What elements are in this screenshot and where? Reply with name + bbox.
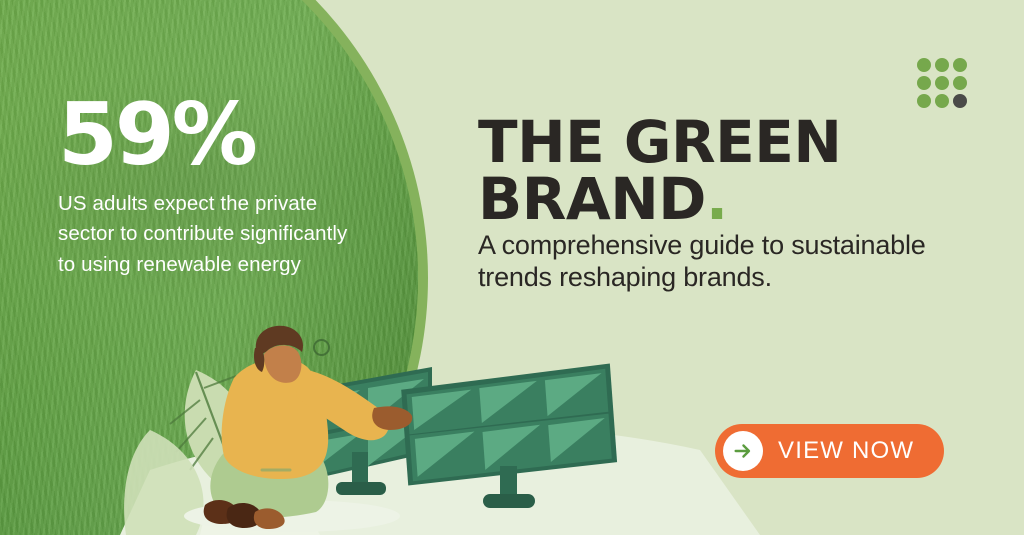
marketing-banner: 59% US adults expect the private sector … (0, 0, 1024, 535)
logo-dot-8 (935, 94, 949, 108)
logo-dot-7 (917, 94, 931, 108)
view-now-button[interactable]: VIEW NOW (715, 424, 944, 478)
decor-circle-outline (313, 339, 330, 356)
dot-grid-logo[interactable] (917, 58, 967, 108)
logo-dot-4 (917, 76, 931, 90)
headline-accent-dot: . (706, 165, 728, 233)
stat-description: US adults expect the private sector to c… (58, 189, 358, 280)
arrow-right-icon (723, 431, 763, 471)
page-title: THE GREEN BRAND. (478, 114, 998, 229)
logo-dot-3 (953, 58, 967, 72)
stat-block: 59% US adults expect the private sector … (58, 96, 358, 280)
logo-dot-5 (935, 76, 949, 90)
subheading: A comprehensive guide to sustainable tre… (478, 230, 978, 293)
stat-percentage: 59% (58, 96, 358, 175)
logo-dot-9-accent (953, 94, 967, 108)
logo-dot-6 (953, 76, 967, 90)
logo-dot-1 (917, 58, 931, 72)
logo-dot-2 (935, 58, 949, 72)
view-now-label: VIEW NOW (778, 437, 914, 465)
headline-line-2: BRAND (478, 165, 706, 233)
